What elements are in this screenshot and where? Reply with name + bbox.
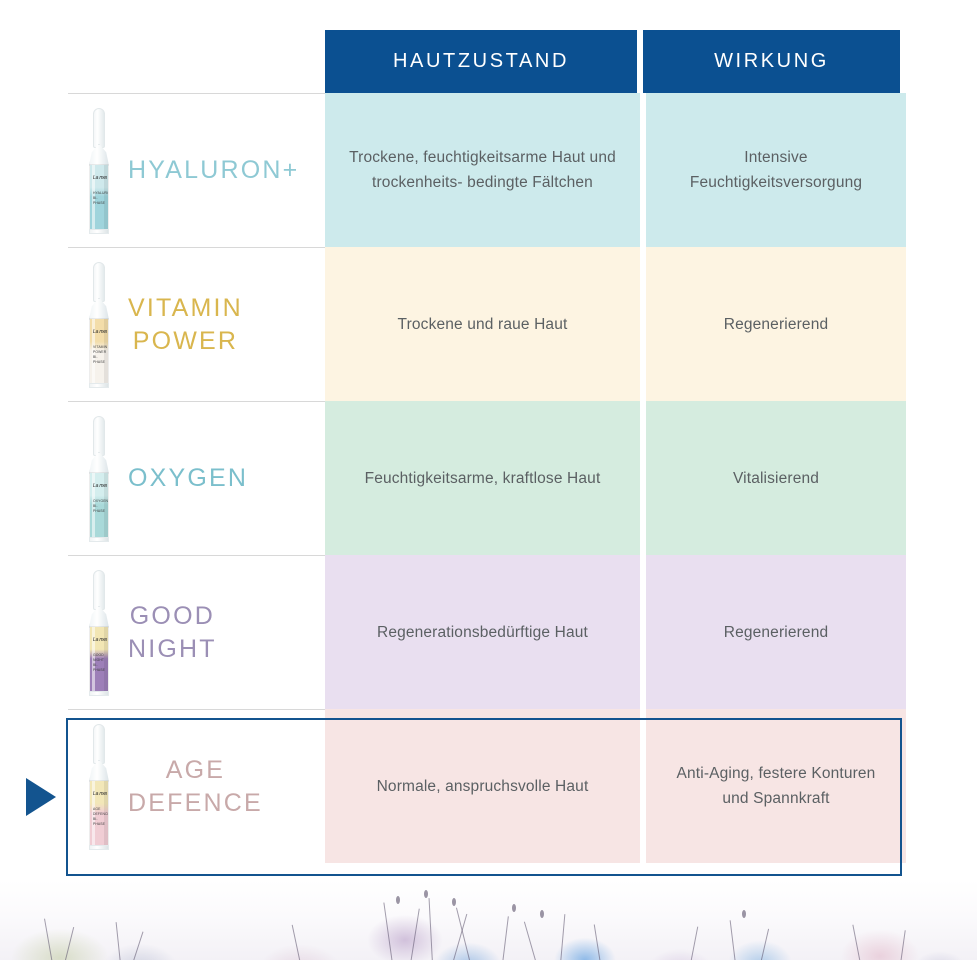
condition-cell: Regenerationsbedürftige Haut [325, 555, 640, 709]
product-cell: La mer VITAMIN POWER BI-PHASE VITAMIN PO… [68, 247, 325, 401]
effect-cell: Vitalisierend [646, 401, 906, 555]
header-label-condition: HAUTZUSTAND [325, 30, 637, 93]
header-cell-condition: HAUTZUSTAND [325, 30, 640, 93]
product-cell: La mer OXYGEN BI-PHASE OXYGEN [68, 401, 325, 555]
effect-text: Regenerierend [708, 312, 845, 337]
effect-cell: Regenerierend [646, 555, 906, 709]
condition-cell: Feuchtigkeitsarme, kraftlose Haut [325, 401, 640, 555]
ampoule-variant-text: VITAMIN POWER BI-PHASE [93, 345, 108, 365]
effect-cell: Regenerierend [646, 247, 906, 401]
product-name: GOOD NIGHT [128, 600, 217, 666]
ampoule-icon: La mer AGE DEFENCE BI-PHASE [86, 724, 112, 850]
ampoule-variant-text: HYALURON+ BI-PHASE [93, 191, 108, 206]
condition-text: Normale, anspruchsvolle Haut [361, 774, 605, 799]
condition-cell: Trockene und raue Haut [325, 247, 640, 401]
condition-text: Regenerationsbedürftige Haut [361, 620, 604, 645]
product-cell: La mer HYALURON+ BI-PHASE HYALURON+ [68, 93, 325, 247]
ampoule-variant-text: AGE DEFENCE BI-PHASE [93, 807, 108, 827]
effect-text: Intensive Feuchtigkeitsversorgung [646, 145, 906, 195]
comparison-table: HAUTZUSTAND WIRKUNG La mer HYALURON+ BI-… [0, 0, 977, 880]
ampoule-brand-text: La mer [93, 175, 107, 182]
ampoule-brand-text: La mer [93, 791, 107, 798]
condition-text: Trockene und raue Haut [382, 312, 584, 337]
product-name: HYALURON+ [128, 154, 299, 187]
table-grid: HAUTZUSTAND WIRKUNG La mer HYALURON+ BI-… [68, 30, 900, 863]
product-name: OXYGEN [128, 462, 248, 495]
table-row[interactable]: La mer GOOD NIGHT BI-PHASE GOOD NIGHT Re… [68, 555, 900, 709]
condition-text: Trockene, feuchtigkeitsarme Haut und tro… [325, 145, 640, 195]
ampoule-brand-text: La mer [93, 637, 107, 644]
ampoule-brand-text: La mer [93, 483, 107, 490]
condition-text: Feuchtigkeitsarme, kraftlose Haut [349, 466, 617, 491]
effect-text: Anti-Aging, festere Konturen und Spannkr… [646, 761, 906, 811]
selection-pointer-icon [26, 778, 56, 816]
header-label-effect: WIRKUNG [643, 30, 900, 93]
condition-cell: Normale, anspruchsvolle Haut [325, 709, 640, 863]
header-cell-product [68, 30, 325, 93]
ampoule-brand-text: La mer [93, 329, 107, 336]
ampoule-icon: La mer VITAMIN POWER BI-PHASE [86, 262, 112, 388]
effect-cell: Anti-Aging, festere Konturen und Spannkr… [646, 709, 906, 863]
table-row[interactable]: La mer VITAMIN POWER BI-PHASE VITAMIN PO… [68, 247, 900, 401]
ampoule-variant-text: GOOD NIGHT BI-PHASE [93, 653, 108, 673]
table-row[interactable]: La mer HYALURON+ BI-PHASE HYALURON+ Troc… [68, 93, 900, 247]
effect-text: Regenerierend [708, 620, 845, 645]
ampoule-variant-text: OXYGEN BI-PHASE [93, 499, 108, 514]
effect-cell: Intensive Feuchtigkeitsversorgung [646, 93, 906, 247]
table-row[interactable]: La mer OXYGEN BI-PHASE OXYGEN Feuchtigke… [68, 401, 900, 555]
ampoule-icon: La mer HYALURON+ BI-PHASE [86, 108, 112, 234]
header-cell-effect: WIRKUNG [640, 30, 900, 93]
ampoule-icon: La mer GOOD NIGHT BI-PHASE [86, 570, 112, 696]
effect-text: Vitalisierend [717, 466, 835, 491]
table-row-selected[interactable]: La mer AGE DEFENCE BI-PHASE AGE DEFENCE … [68, 709, 900, 863]
floral-decoration-band [0, 880, 977, 960]
condition-cell: Trockene, feuchtigkeitsarme Haut und tro… [325, 93, 640, 247]
product-name: VITAMIN POWER [128, 292, 243, 358]
ampoule-icon: La mer OXYGEN BI-PHASE [86, 416, 112, 542]
table-header-row: HAUTZUSTAND WIRKUNG [68, 30, 900, 93]
product-cell: La mer AGE DEFENCE BI-PHASE AGE DEFENCE [68, 709, 325, 863]
product-name: AGE DEFENCE [128, 754, 263, 820]
product-cell: La mer GOOD NIGHT BI-PHASE GOOD NIGHT [68, 555, 325, 709]
